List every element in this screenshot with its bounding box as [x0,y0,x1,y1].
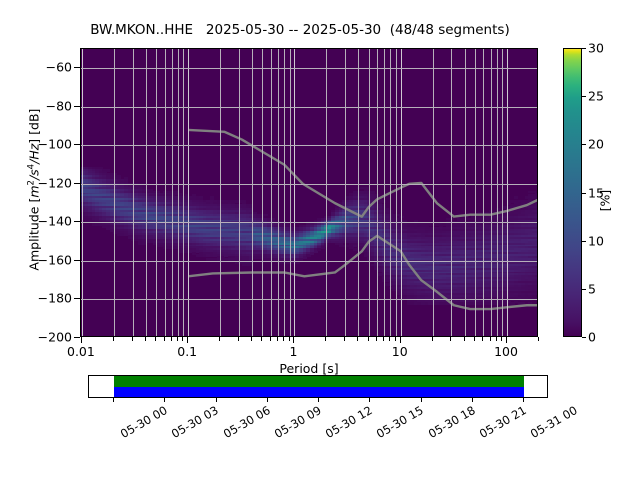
y-tick [74,144,80,145]
colorbar-tick [582,96,586,97]
colorbar-tick [582,144,586,145]
nhnm-curve [188,130,538,217]
x-tick [251,337,252,341]
x-tick [482,337,483,341]
x-tick [283,337,284,341]
colorbar-tick-label: 25 [588,89,604,104]
timeline-data-bar [114,376,524,387]
timeline-tick [216,398,217,402]
x-tick [376,337,377,341]
colorbar-tick-label: 30 [588,41,604,56]
timeline-tick [369,398,370,402]
x-tick [177,337,178,341]
colorbar [563,48,582,337]
colorbar-tick [582,241,586,242]
x-tick [432,337,433,341]
timeline-tick [421,398,422,402]
timeline-tick-label: 05-30 00 [118,403,170,441]
x-tick [171,337,172,341]
x-tick [400,337,401,343]
x-tick [187,337,188,343]
colorbar-tick-label: 0 [588,330,596,345]
y-tick [74,260,80,261]
x-tick [81,337,82,343]
timeline-tick [113,398,114,402]
timeline-tick-label: 05-30 12 [323,403,375,441]
x-tick-label: 1 [289,344,297,359]
timeline-tick-label: 05-30 06 [220,403,272,441]
timeline-tick [472,398,473,402]
timeline-tick-label: 05-30 18 [425,403,477,441]
x-tick [238,337,239,341]
x-tick [219,337,220,341]
x-tick [164,337,165,341]
data-coverage-timeline[interactable] [88,375,548,398]
colorbar-tick [582,337,586,338]
x-tick [113,337,114,341]
x-tick [368,337,369,341]
x-tick [182,337,183,341]
y-axis-title-text: Amplitude [m2/s4/Hz] [dB] [27,109,42,271]
colorbar-tick [582,48,586,49]
x-tick [325,337,326,341]
x-tick [464,337,465,341]
x-tick [490,337,491,341]
y-tick [74,183,80,184]
x-tick [506,337,507,343]
x-tick [289,337,290,341]
y-tick [74,221,80,222]
x-tick [344,337,345,341]
y-tick [74,67,80,68]
x-tick [270,337,271,341]
x-tick [155,337,156,341]
x-tick [474,337,475,341]
timeline-tick [318,398,319,402]
x-axis-title: Period [s] [80,361,538,376]
x-tick [496,337,497,341]
nlnm-curve [188,236,538,309]
x-tick [277,337,278,341]
x-tick-label: 10 [392,344,408,359]
colorbar-tick-label: 5 [588,281,596,296]
x-tick [450,337,451,341]
timeline-tick-label: 05-30 15 [374,403,426,441]
x-tick [145,337,146,341]
y-axis-title: Amplitude [m2/s4/Hz] [dB] [26,70,41,310]
timeline-tick-label: 05-30 03 [169,403,221,441]
x-tick [132,337,133,341]
timeline-gap-bar [114,387,524,398]
x-tick [261,337,262,341]
timeline-tick [164,398,165,402]
x-tick [383,337,384,341]
colorbar-label: [%] [598,141,613,261]
timeline-tick [267,398,268,402]
figure-title: BW.MKON..HHE 2025-05-30 -- 2025-05-30 (4… [0,22,600,38]
y-tick [74,337,80,338]
x-tick [395,337,396,341]
x-tick [501,337,502,341]
y-tick-label: −200 [32,330,72,345]
y-tick [74,106,80,107]
colorbar-tick [582,193,586,194]
x-tick [389,337,390,341]
timeline-tick [523,398,524,402]
x-tick [357,337,358,341]
x-tick-label: 100 [494,344,518,359]
timeline-tick-label: 05-30 09 [272,403,324,441]
x-tick [293,337,294,343]
ppsd-plot-area [80,48,538,337]
y-tick [74,298,80,299]
noise-model-curves [81,49,538,337]
timeline-tick-label: 05-30 21 [477,403,529,441]
colorbar-tick [582,289,586,290]
x-tick [538,337,539,341]
x-tick-label: 0.1 [177,344,197,359]
x-tick-label: 0.01 [67,344,95,359]
ppsd-figure: BW.MKON..HHE 2025-05-30 -- 2025-05-30 (4… [0,0,640,480]
timeline-tick-label: 05-31 00 [528,403,580,441]
